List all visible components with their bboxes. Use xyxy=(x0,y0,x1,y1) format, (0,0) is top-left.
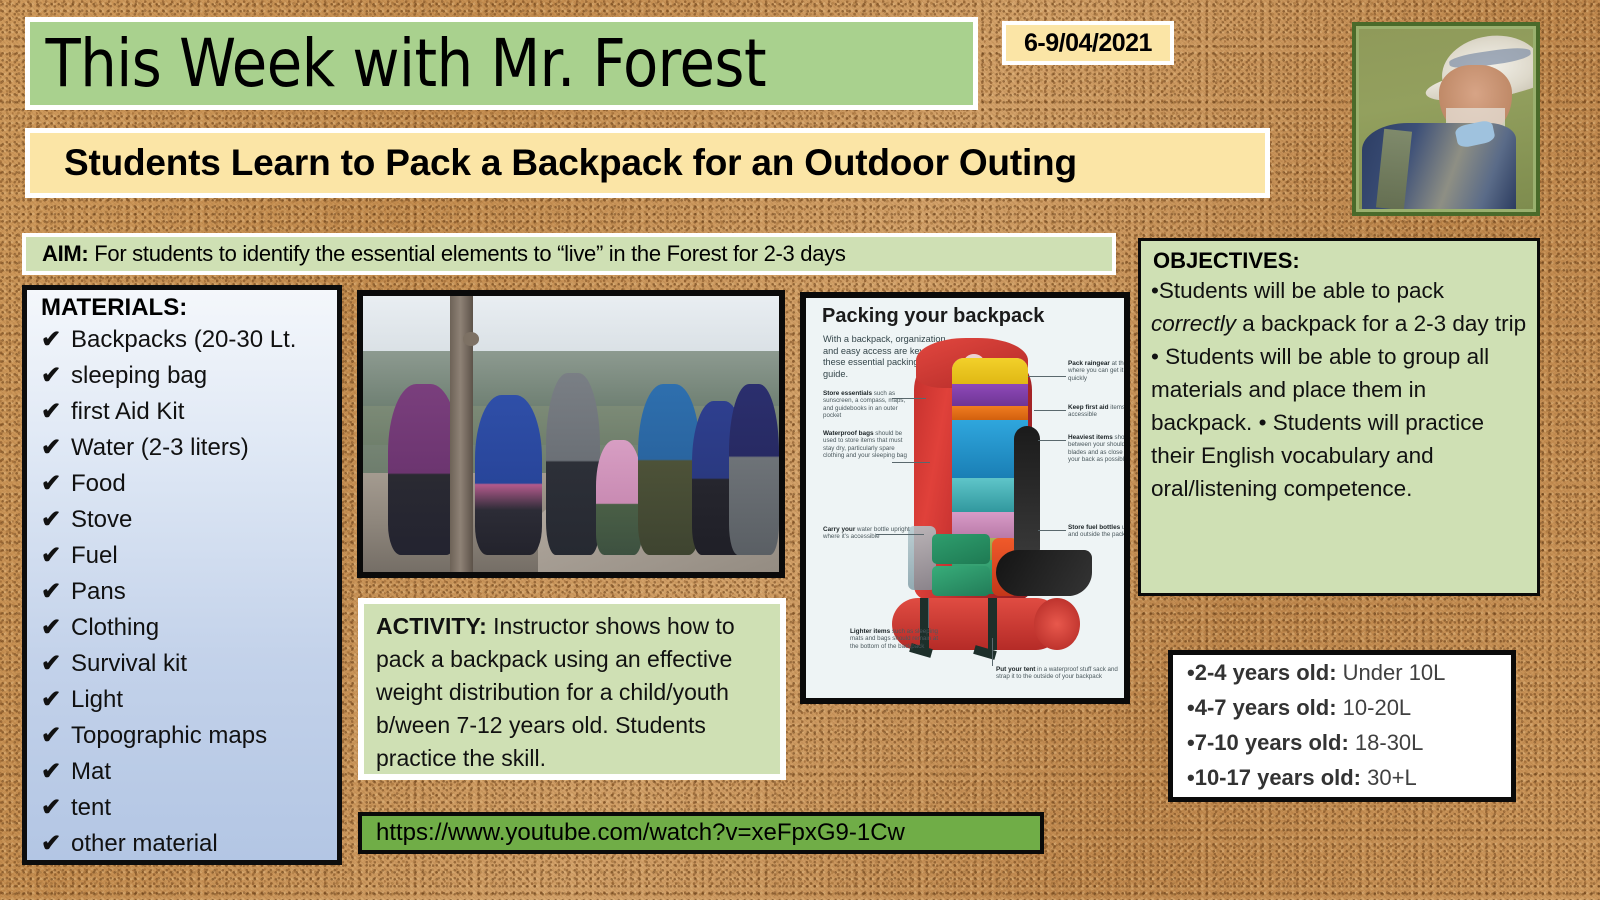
diagram-note: Waterproof bags should be used to store … xyxy=(823,430,911,460)
shoulder-strap-shape xyxy=(1014,426,1040,562)
check-icon: ✔ xyxy=(41,430,71,466)
materials-item-label: Mat xyxy=(71,754,111,790)
subtitle-banner: Students Learn to Pack a Backpack for an… xyxy=(25,128,1270,198)
diagram-title: Packing your backpack xyxy=(822,305,1044,328)
layer-firstaid-orange xyxy=(952,406,1028,420)
age-range-label: •10-17 years old: xyxy=(1187,765,1361,790)
hiker-figure xyxy=(596,440,642,556)
backpack-size-row: •7-10 years old: 18-30L xyxy=(1173,725,1511,760)
backpack-capacity-value: 10-20L xyxy=(1337,695,1412,720)
backpack-capacity-value: 18-30L xyxy=(1349,730,1424,755)
materials-item: ✔Light xyxy=(27,682,337,718)
backpack-lower-pocket-shape xyxy=(932,534,990,564)
hiker-figure xyxy=(388,384,459,555)
diagram-note-label: Store essentials xyxy=(823,390,872,397)
hiker-figure xyxy=(729,384,779,555)
backpack-capacity-value: 30+L xyxy=(1361,765,1417,790)
materials-item: ✔Stove xyxy=(27,502,337,538)
page-title: This Week with Mr. Forest xyxy=(30,25,766,102)
subtitle-text: Students Learn to Pack a Backpack for an… xyxy=(30,142,1077,184)
materials-item-label: first Aid Kit xyxy=(71,394,184,430)
materials-item: ✔Water (2-3 liters) xyxy=(27,430,337,466)
backpack-capacity-value: Under 10L xyxy=(1337,660,1446,685)
backpack-size-by-age-panel: •2-4 years old: Under 10L•4-7 years old:… xyxy=(1168,650,1516,802)
objectives-list: •Students will be able to pack correctly… xyxy=(1141,274,1537,505)
check-icon: ✔ xyxy=(41,574,71,610)
students-photo-scene xyxy=(363,296,779,572)
hip-belt-shape xyxy=(996,550,1092,596)
aim-body: For students to identify the essential e… xyxy=(94,241,845,266)
callout-line xyxy=(1028,376,1066,377)
packing-diagram: Packing your backpack With a backpack, o… xyxy=(800,292,1130,704)
check-icon: ✔ xyxy=(41,646,71,682)
diagram-note: Store essentials such as sunscreen, a co… xyxy=(823,390,911,420)
check-icon: ✔ xyxy=(41,682,71,718)
check-icon: ✔ xyxy=(41,502,71,538)
materials-item-label: Fuel xyxy=(71,538,118,574)
check-icon: ✔ xyxy=(41,826,71,862)
page-title-banner: This Week with Mr. Forest xyxy=(25,17,978,110)
aim-label: AIM: xyxy=(42,241,88,266)
materials-item-label: Light xyxy=(71,682,123,718)
age-range-label: •4-7 years old: xyxy=(1187,695,1337,720)
layer-raingear-purple xyxy=(952,384,1028,406)
date-text: 6-9/04/2021 xyxy=(1024,29,1152,58)
youtube-link-banner[interactable]: https://www.youtube.com/watch?v=xeFpxG9-… xyxy=(358,812,1044,854)
materials-item-label: tent xyxy=(71,790,111,826)
backpack-lower-pocket2-shape xyxy=(932,566,990,596)
materials-item: ✔tent xyxy=(27,790,337,826)
callout-line xyxy=(928,598,929,628)
materials-item-label: Survival kit xyxy=(71,646,187,682)
materials-item: ✔Backpacks (20-30 Lt. xyxy=(27,322,337,358)
materials-item: ✔Topographic maps xyxy=(27,718,337,754)
materials-item: ✔Clothing xyxy=(27,610,337,646)
materials-item-label: Pans xyxy=(71,574,126,610)
tree-knot xyxy=(463,332,480,346)
date-badge: 6-9/04/2021 xyxy=(1002,21,1174,65)
activity-label: ACTIVITY: xyxy=(376,613,487,639)
hiker-figure xyxy=(475,395,542,555)
materials-item-label: Backpacks (20-30 Lt. xyxy=(71,322,296,358)
objectives-item-text: •Students will be able to pack xyxy=(1151,278,1444,303)
instructor-portrait-photo xyxy=(1359,29,1533,209)
materials-item-label: Topographic maps xyxy=(71,718,267,754)
hiker-figure xyxy=(638,384,700,555)
activity-text: ACTIVITY: Instructor shows how to pack a… xyxy=(364,604,780,775)
check-icon: ✔ xyxy=(41,718,71,754)
callout-line xyxy=(892,462,930,463)
backpack-size-row: •4-7 years old: 10-20L xyxy=(1173,690,1511,725)
diagram-note-label: Store fuel bottles xyxy=(1068,524,1120,531)
materials-item: ✔Survival kit xyxy=(27,646,337,682)
callout-line xyxy=(1034,410,1066,411)
backpack-size-row: •2-4 years old: Under 10L xyxy=(1173,655,1511,690)
diagram-note-label: Put your tent xyxy=(996,666,1035,673)
materials-item: ✔first Aid Kit xyxy=(27,394,337,430)
aim-text: AIM: For students to identify the essent… xyxy=(26,241,846,267)
activity-panel: ACTIVITY: Instructor shows how to pack a… xyxy=(358,598,786,780)
check-icon: ✔ xyxy=(41,322,71,358)
materials-item: ✔Pans xyxy=(27,574,337,610)
materials-item: ✔Food xyxy=(27,466,337,502)
objectives-item: •Students will be able to pack correctly… xyxy=(1151,278,1526,336)
materials-title: MATERIALS: xyxy=(27,290,337,322)
youtube-link-text[interactable]: https://www.youtube.com/watch?v=xeFpxG9-… xyxy=(362,819,905,847)
age-range-label: •2-4 years old: xyxy=(1187,660,1337,685)
diagram-note: Lighter items such as sleeping mats and … xyxy=(850,628,942,650)
diagram-note-label: Lighter items xyxy=(850,628,890,635)
diagram-note: Put your tent in a waterproof stuff sack… xyxy=(996,666,1120,681)
tent-stuff-sack-shape xyxy=(1034,598,1080,650)
diagram-note: Store fuel bottles upright and outside t… xyxy=(1068,524,1130,539)
callout-line xyxy=(992,638,993,666)
diagram-note-label: Keep first aid xyxy=(1068,404,1109,411)
aim-banner: AIM: For students to identify the essent… xyxy=(22,233,1116,275)
check-icon: ✔ xyxy=(41,538,71,574)
check-icon: ✔ xyxy=(41,358,71,394)
backpack-size-list: •2-4 years old: Under 10L•4-7 years old:… xyxy=(1173,655,1511,795)
materials-panel: MATERIALS: ✔Backpacks (20-30 Lt.✔sleepin… xyxy=(22,285,342,865)
diagram-note-label: Pack raingear xyxy=(1068,360,1110,367)
materials-item: ✔other material xyxy=(27,826,337,862)
objectives-title: OBJECTIVES: xyxy=(1141,241,1537,274)
materials-item-label: Stove xyxy=(71,502,132,538)
materials-item-label: Clothing xyxy=(71,610,159,646)
diagram-note-label: Waterproof bags xyxy=(823,430,874,437)
materials-list: ✔Backpacks (20-30 Lt.✔sleeping bag✔first… xyxy=(27,322,337,862)
students-photo xyxy=(357,290,785,578)
check-icon: ✔ xyxy=(41,610,71,646)
age-range-label: •7-10 years old: xyxy=(1187,730,1349,755)
diagram-note: Carry your water bottle upright where it… xyxy=(823,526,911,541)
diagram-note-label: Heaviest items xyxy=(1068,434,1113,441)
callout-line xyxy=(1038,530,1066,531)
check-icon: ✔ xyxy=(41,790,71,826)
materials-item-label: other material xyxy=(71,826,218,862)
instructor-portrait-frame xyxy=(1352,22,1540,216)
objectives-panel: OBJECTIVES: •Students will be able to pa… xyxy=(1138,238,1540,596)
diagram-note: Heaviest items should sit between your s… xyxy=(1068,434,1130,464)
hiker-figure xyxy=(546,373,600,555)
diagram-note-label: Carry your xyxy=(823,526,855,533)
materials-item-label: Food xyxy=(71,466,126,502)
diagram-note: Pack raingear at the top where you can g… xyxy=(1068,360,1130,382)
backpack-size-row: •10-17 years old: 30+L xyxy=(1173,760,1511,795)
callout-line xyxy=(1038,440,1066,441)
materials-item: ✔Fuel xyxy=(27,538,337,574)
materials-item-label: sleeping bag xyxy=(71,358,207,394)
check-icon: ✔ xyxy=(41,394,71,430)
objectives-item-text-cont: a backpack for a 2-3 day trip xyxy=(1236,311,1526,336)
materials-item-label: Water (2-3 liters) xyxy=(71,430,249,466)
check-icon: ✔ xyxy=(41,754,71,790)
objectives-item-emphasis: correctly xyxy=(1151,311,1236,336)
materials-item: ✔Mat xyxy=(27,754,337,790)
check-icon: ✔ xyxy=(41,466,71,502)
materials-item: ✔sleeping bag xyxy=(27,358,337,394)
layer-raingear-yellow xyxy=(952,358,1028,384)
diagram-note: Keep first aid items accessible xyxy=(1068,404,1130,419)
